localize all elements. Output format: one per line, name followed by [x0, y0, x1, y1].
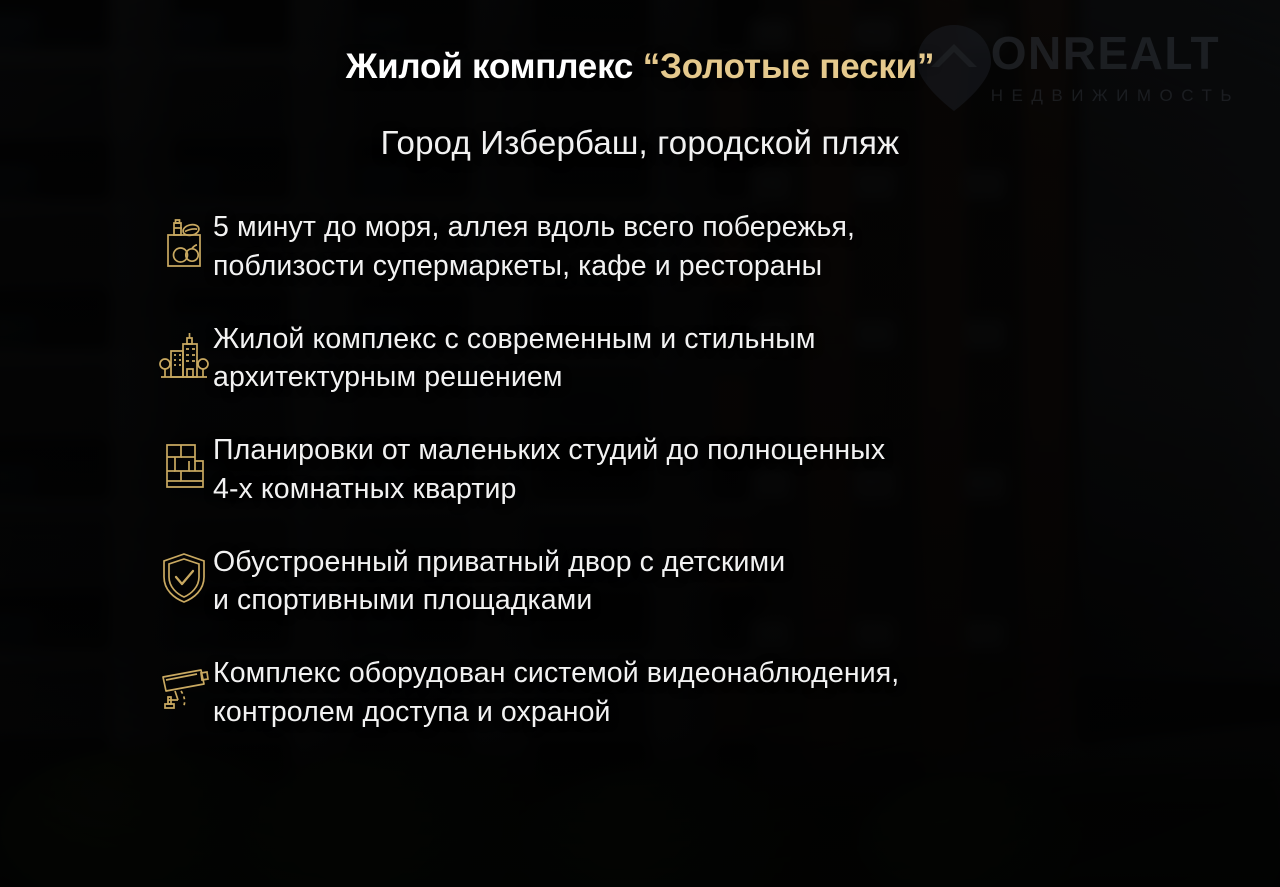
promo-banner: ONREALT НЕДВИЖИМОСТЬ Жилой комплекс “Зол…: [0, 0, 1280, 887]
feature-item: Жилой комплекс с современным и стильным …: [155, 318, 1220, 398]
shield-check-icon: [155, 547, 213, 609]
feature-text: Жилой комплекс с современным и стильным …: [213, 318, 1220, 398]
feature-text: 5 минут до моря, аллея вдоль всего побер…: [213, 206, 1220, 286]
feature-text: Комплекс оборудован системой видеонаблюд…: [213, 652, 1220, 732]
grocery-bag-icon: [155, 212, 213, 274]
page-subtitle: Город Избербаш, городской пляж: [0, 124, 1280, 162]
feature-list: 5 минут до моря, аллея вдоль всего побер…: [155, 206, 1220, 732]
page-title: Жилой комплекс “Золотые пески”: [0, 47, 1280, 87]
feature-text: Планировки от маленьких студий до полноц…: [213, 429, 1220, 509]
feature-item: Обустроенный приватный двор с детскими и…: [155, 541, 1220, 621]
feature-item: 5 минут до моря, аллея вдоль всего побер…: [155, 206, 1220, 286]
floor-plan-icon: [155, 435, 213, 497]
buildings-icon: [155, 324, 213, 386]
title-prefix: Жилой комплекс: [346, 47, 643, 86]
cctv-camera-icon: [155, 658, 213, 720]
title-highlight: “Золотые пески”: [643, 47, 935, 86]
feature-item: Планировки от маленьких студий до полноц…: [155, 429, 1220, 509]
feature-item: Комплекс оборудован системой видеонаблюд…: [155, 652, 1220, 732]
feature-text: Обустроенный приватный двор с детскими и…: [213, 541, 1220, 621]
